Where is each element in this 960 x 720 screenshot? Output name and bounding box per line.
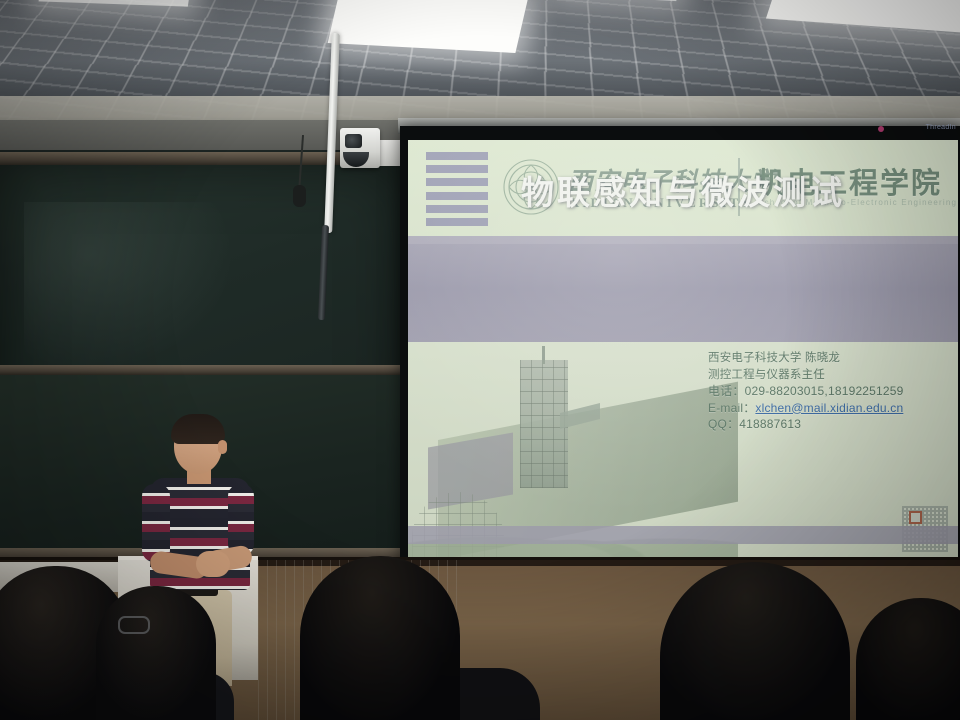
contact-qq: QQ：418887613 [708,416,904,433]
qr-code-finder-icon [909,511,922,524]
contact-email-label: E-mail： [708,401,755,415]
presenter-sleeve-left [142,484,170,562]
slide-footer-band [408,526,958,544]
classroom-presentation-scene: 西安电子科技大学 XIDIAN UNIVERSITY 机电工程学院 School… [0,0,960,720]
audience-glasses-icon [118,616,150,634]
audience-member-head [300,556,460,720]
contact-email-row: E-mail：xlchen@mail.xidian.edu.cn [708,400,904,417]
contact-position: 测控工程与仪器系主任 [708,367,904,384]
contact-phone: 电话：029-88203015,18192251259 [708,383,904,400]
contact-email[interactable]: xlchen@mail.xidian.edu.cn [755,401,903,415]
presenter-ear [218,440,227,454]
contact-affiliation: 西安电子科技大学 陈晓龙 [708,350,904,367]
title-band-highlight [408,236,958,244]
chalkboard-rail [0,365,404,375]
audience-member-head [96,586,216,720]
slide-title: 物联感知与微波测试 [408,166,958,214]
chalkboard-glare [24,202,246,380]
watermark-dot-icon [878,126,884,132]
contact-block: 西安电子科技大学 陈晓龙 测控工程与仪器系主任 电话：029-88203015,… [708,350,904,433]
building-spire [542,346,545,364]
slide-title-band [408,236,958,342]
presentation-slide: 西安电子科技大学 XIDIAN UNIVERSITY 机电工程学院 School… [408,140,958,560]
projection-screen[interactable]: 西安电子科技大学 XIDIAN UNIVERSITY 机电工程学院 School… [408,140,958,560]
presenter-hair [171,414,225,444]
camera-lens-icon [345,134,362,148]
hanging-wire-weight [293,185,306,207]
presenter-hands [196,551,230,577]
screen-watermark: ThreadIn [926,124,956,131]
